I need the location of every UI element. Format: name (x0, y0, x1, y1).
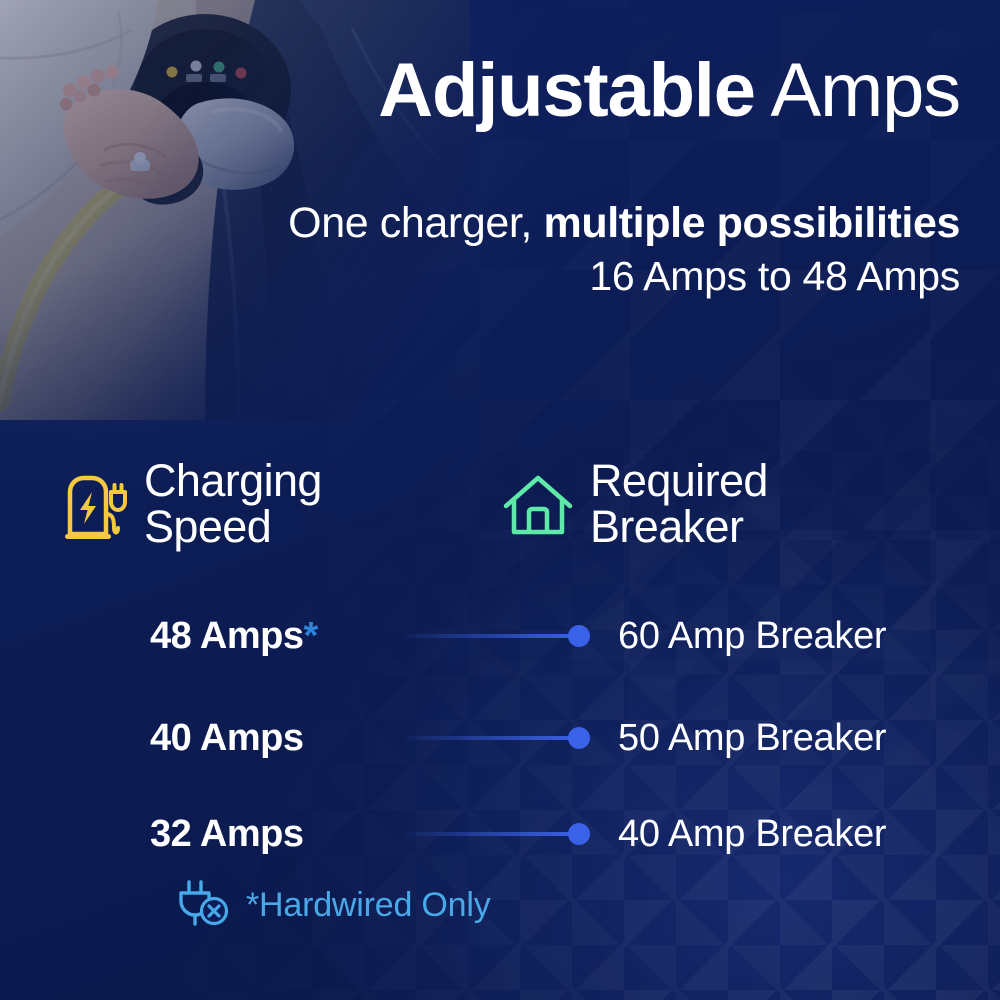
subtitle-bold-part: multiple possibilities (544, 199, 961, 247)
column-header-required-breaker: Required Breaker (502, 458, 768, 550)
charging-speed-value: 32 Amps (150, 813, 405, 856)
subtitle-light-part: One charger, (288, 199, 543, 247)
table-row: 32 Amps 40 Amp Breaker (150, 806, 950, 862)
required-breaker-line-1: Required (590, 455, 768, 506)
column-header-charging-speed: Charging Speed (62, 458, 322, 551)
connector-dot (568, 625, 590, 647)
charging-speed-amps-text: 40 Amps (150, 717, 304, 759)
table-row: 40 Amps 50 Amp Breaker (150, 710, 950, 766)
charging-speed-value: 40 Amps (150, 717, 405, 760)
subtitle-line-2: 16 Amps to 48 Amps (200, 253, 960, 300)
required-breaker-value: 60 Amp Breaker (590, 615, 950, 658)
title-bold-part: Adjustable (378, 48, 755, 133)
row-connector (405, 624, 590, 648)
connector-line (405, 736, 580, 740)
connector-line (405, 634, 580, 638)
row-connector (405, 726, 590, 750)
required-breaker-value: 50 Amp Breaker (590, 717, 950, 760)
footnote-label: *Hardwired Only (246, 886, 491, 925)
charging-speed-value: 48 Amps* (150, 615, 405, 658)
connector-dot (568, 727, 590, 749)
hardwired-asterisk: * (304, 615, 318, 657)
no-plug-icon (178, 880, 230, 931)
house-icon (502, 472, 574, 547)
footnote: *Hardwired Only (178, 880, 491, 931)
column-header-required-breaker-label: Required Breaker (590, 458, 768, 550)
charging-speed-amps-text: 48 Amps (150, 615, 304, 657)
table-row: 48 Amps* 60 Amp Breaker (150, 608, 950, 664)
charging-speed-line-2: Speed (144, 501, 271, 552)
required-breaker-line-2: Breaker (590, 501, 743, 552)
required-breaker-value: 40 Amp Breaker (590, 813, 950, 856)
subtitle-line-1: One charger, multiple possibilities (200, 196, 960, 251)
column-header-charging-speed-label: Charging Speed (144, 458, 322, 550)
connector-dot (568, 823, 590, 845)
row-connector (405, 822, 590, 846)
page-title: Adjustable Amps (330, 52, 960, 130)
charging-speed-line-1: Charging (144, 455, 322, 506)
connector-line (405, 832, 580, 836)
title-light-part: Amps (755, 48, 960, 133)
charging-speed-amps-text: 32 Amps (150, 813, 304, 855)
ev-charging-station-icon (62, 472, 128, 551)
infographic-canvas: Adjustable Amps One charger, multiple po… (0, 0, 1000, 1000)
